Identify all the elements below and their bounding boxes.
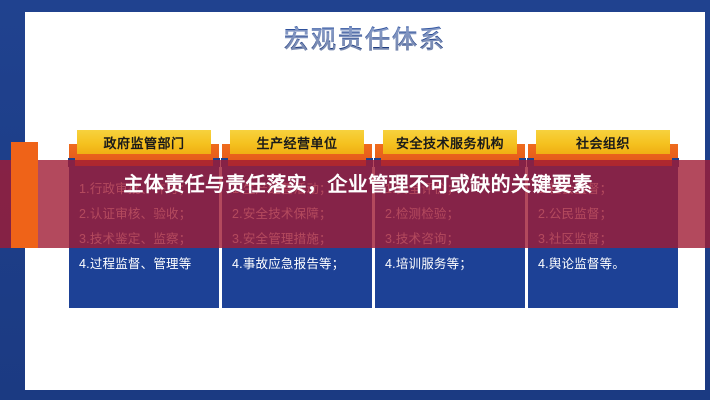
list-item: 4.事故应急报告等； <box>232 252 372 277</box>
column-header-label: 社会组织 <box>576 133 630 152</box>
column-header-tab: 社会组织 <box>536 130 670 154</box>
accent-bar <box>11 142 38 248</box>
list-item: 4.过程监督、管理等 <box>79 252 219 277</box>
diagram-screenshot: 宏观责任体系 政府监管部门 1.行政审批、许可； 2.认证审核、验收； 3.技术… <box>0 0 710 400</box>
page-title: 宏观责任体系 <box>25 20 705 56</box>
column-header-label: 政府监管部门 <box>103 133 184 152</box>
headline-overlay-banner: 主体责任与责任落实，企业管理不可或缺的关键要素 <box>0 160 710 248</box>
list-item: 4.培训服务等； <box>385 252 525 277</box>
column-header-label: 生产经营单位 <box>256 133 337 152</box>
headline-text: 主体责任与责任落实，企业管理不可或缺的关键要素 <box>52 170 664 201</box>
column-header-tab: 政府监管部门 <box>77 130 211 154</box>
list-item: 4.舆论监督等。 <box>538 252 678 277</box>
column-header-label: 安全技术服务机构 <box>396 133 504 152</box>
column-header-tab: 生产经营单位 <box>230 130 364 154</box>
column-header-tab: 安全技术服务机构 <box>383 130 517 154</box>
